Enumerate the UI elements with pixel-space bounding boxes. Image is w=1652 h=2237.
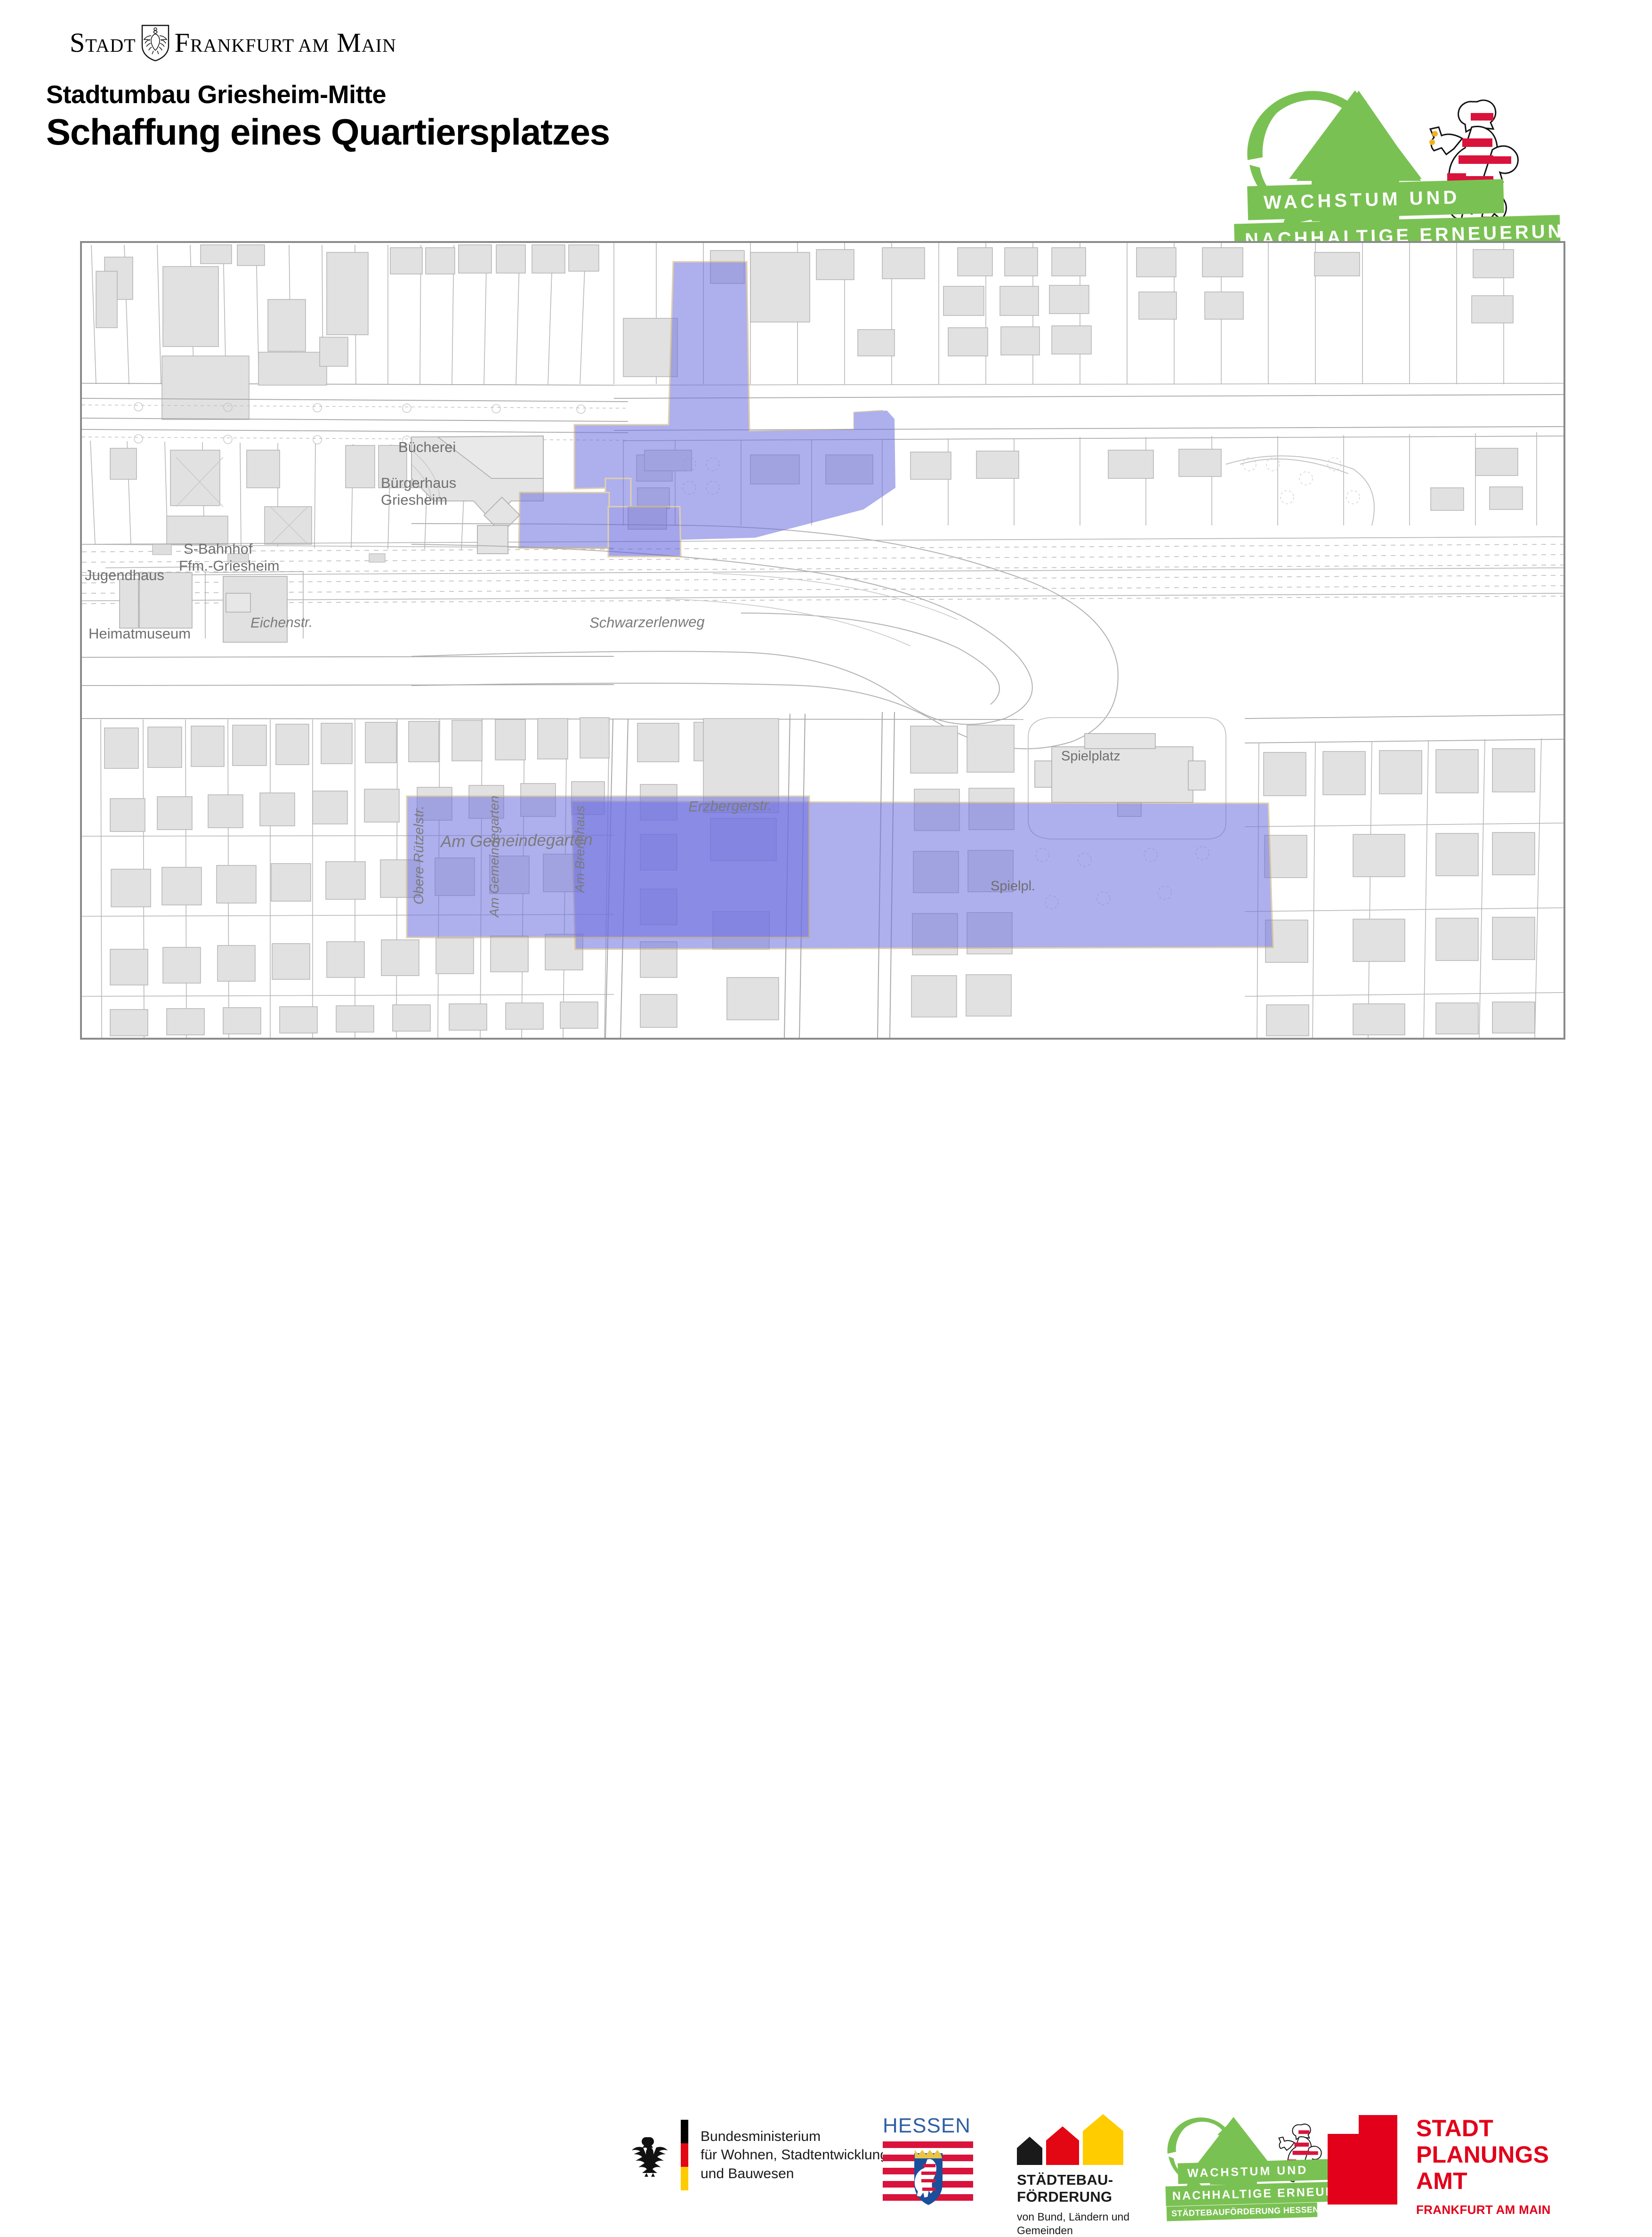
highlight-area-south [82,243,1563,1038]
street-label-eichenstr: Eichenstr. [250,614,313,631]
staedtebau-sub2: Gemeinden [1017,2224,1130,2237]
poi-label-buecherei: Bücherei [398,439,456,456]
staedtebau-line2: FÖRDERUNG [1017,2189,1130,2205]
page-header: STADT FRANKFURT AM MAIN Stadtumbau [0,0,1652,235]
bmwsb-line1: Bundesministerium [701,2127,888,2146]
staedtebau-line1: STÄDTEBAU- [1017,2172,1130,2189]
poi-label-buergerhaus: Bürgerhaus [381,475,456,492]
title-block: Stadtumbau Griesheim-Mitte Schaffung ein… [46,80,610,153]
street-label-erzbergerstr: Erzbergerstr. [688,797,773,815]
street-label-am-gemeindegarten-vertical: Am Gemeindegarten [487,796,502,917]
poi-label-spielpl: Spielpl. [991,879,1035,894]
stadtplanungsamt-logo: STADT PLANUNGS AMT FRANKFURT AM MAIN [1328,2115,1551,2217]
bmwsb-line2: für Wohnen, Stadtentwicklung [701,2146,888,2164]
street-label-am-gemeindegarten: Am Gemeindegarten [441,831,593,852]
city-logo-word-stadt: STADT [70,29,136,57]
hessen-coat-of-arms-icon [912,2143,945,2205]
staedtebau-sub1: von Bund, Ländern und [1017,2210,1130,2224]
spa-sub: FRANKFURT AM MAIN [1416,2203,1551,2217]
bundesministerium-logo: Bundesministerium für Wohnen, Stadtentwi… [631,2120,888,2190]
page-title: Schaffung eines Quartiersplatzes [46,112,610,153]
bundesadler-icon [631,2133,669,2177]
map-canvas [82,243,1563,1038]
frankfurt-eagle-shield-icon [141,24,170,62]
hessen-flag-icon [883,2141,973,2207]
street-label-am-brennhaus: Am Brennhaus [572,806,588,893]
wue-band-line1: WACHSTUM UND [1247,179,1504,220]
hessen-wordmark: HESSEN [883,2114,977,2138]
bmwsb-line3: und Bauwesen [701,2164,888,2183]
street-label-obere-ruetzelstr: Obere Rützelstr. [411,806,427,904]
project-kicker: Stadtumbau Griesheim-Mitte [46,80,610,109]
poi-label-jugendhaus: Jugendhaus [85,567,164,584]
german-flag-bar-icon [681,2120,688,2190]
poi-label-ffm-griesheim: Ffm.-Griesheim [179,557,280,574]
street-label-schwarzerlenweg: Schwarzerlenweg [589,614,705,631]
stadt-frankfurt-logo: STADT FRANKFURT AM MAIN [70,24,396,61]
stadtplanungsamt-mark-icon [1328,2115,1397,2205]
spa-line2: PLANUNGS [1416,2141,1551,2168]
spa-line1: STADT [1416,2115,1551,2141]
wue2-band-line1: WACHSTUM UND [1177,2159,1329,2184]
stadtplanungsamt-text: STADT PLANUNGS AMT FRANKFURT AM MAIN [1416,2115,1551,2217]
poi-label-heimatmuseum: Heimatmuseum [89,625,191,642]
cadastral-map[interactable]: Eichenstr. Schwarzerlenweg Am Gemeindega… [80,241,1565,1040]
bundesministerium-text: Bundesministerium für Wohnen, Stadtentwi… [701,2127,888,2183]
poi-label-griesheim: Griesheim [381,492,447,509]
city-logo-word-frankfurt: FRANKFURT AM MAIN [175,29,396,57]
staedtebaufoerderung-logo: STÄDTEBAU- FÖRDERUNG von Bund, Ländern u… [1017,2114,1130,2237]
poi-label-spielplatz: Spielplatz [1061,749,1120,764]
funding-logo-bar: Bundesministerium für Wohnen, Stadtentwi… [0,1055,1652,1168]
poi-label-s-bahnhof: S-Bahnhof [184,541,253,557]
hessen-logo: HESSEN [883,2114,977,2207]
three-houses-icon [1017,2114,1130,2165]
spa-line3: AMT [1416,2168,1551,2194]
